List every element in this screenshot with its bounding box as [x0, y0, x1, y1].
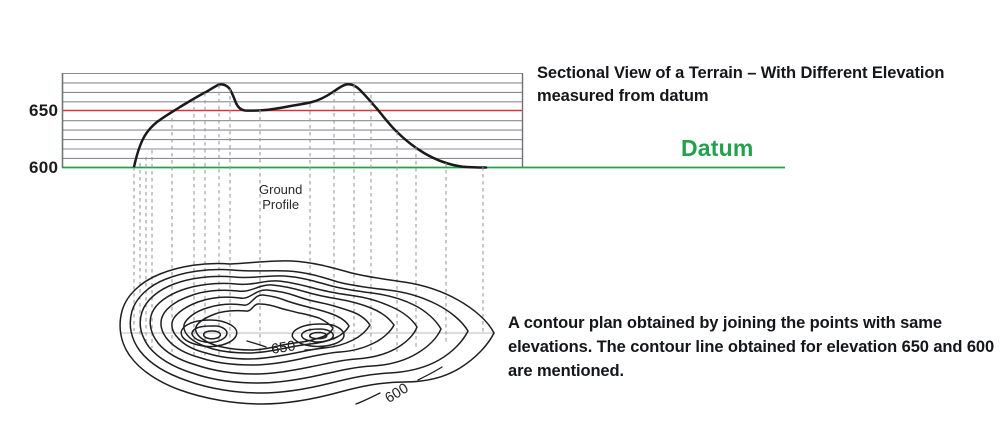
right-peak-645: [302, 329, 334, 342]
contour-label-600: 600: [382, 380, 411, 406]
axis-label-650: 650: [29, 101, 58, 121]
ground-profile-label-line2: Profile: [259, 197, 302, 212]
section-grid: [62, 73, 523, 168]
caption-sectional-view: Sectional View of a Terrain – With Diffe…: [537, 62, 1007, 108]
left-peak-650: [204, 331, 221, 339]
caption-contour-plan: A contour plan obtained by joining the p…: [508, 311, 1007, 383]
axis-label-600: 600: [29, 158, 58, 178]
contour-600-leader-left: [356, 393, 380, 404]
contour-label-650: 650: [270, 338, 296, 358]
contour-600: [120, 261, 494, 404]
contour-plan: [120, 261, 494, 404]
contour-650-leader-left: [247, 341, 266, 347]
ground-profile-label: Ground Profile: [259, 182, 302, 212]
contour-650-leader-right: [305, 347, 324, 350]
datum-label: Datum: [681, 135, 754, 162]
ground-profile-label-line1: Ground: [259, 182, 302, 197]
figure-page: 650 600 650 600 Ground Profile Datum Sec…: [0, 0, 1007, 448]
